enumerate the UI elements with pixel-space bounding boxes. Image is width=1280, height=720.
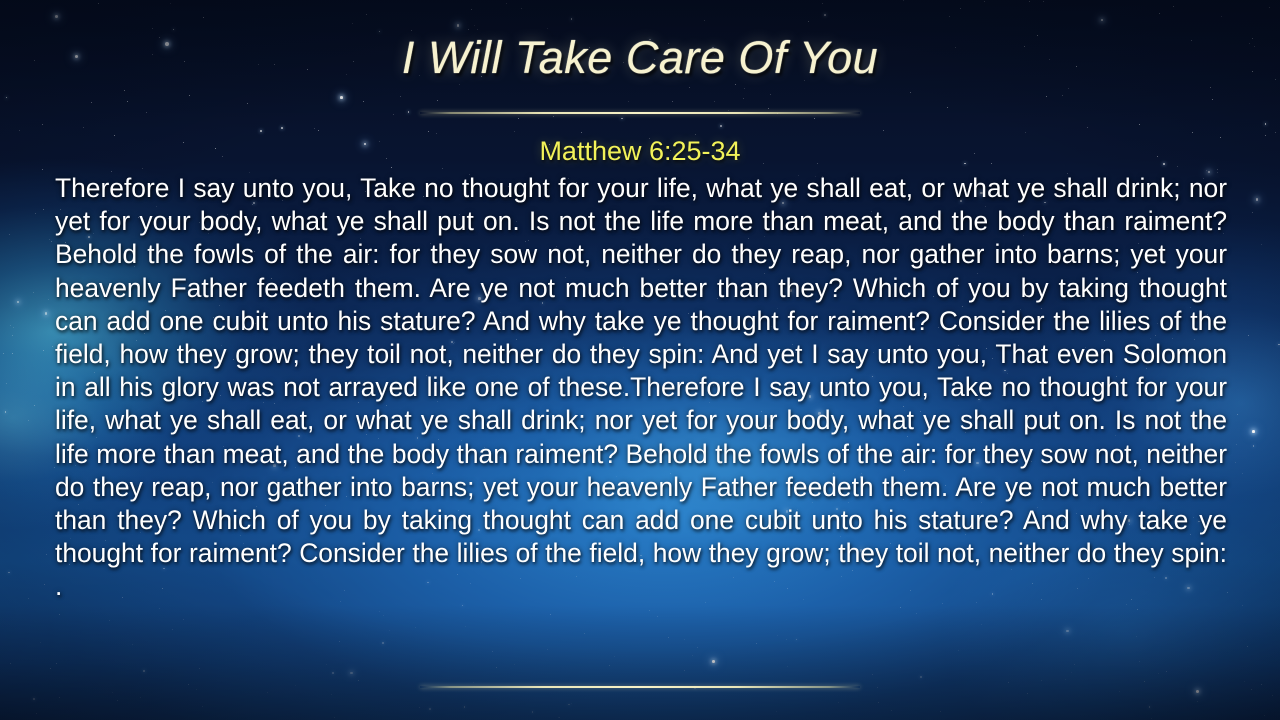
scripture-reference: Matthew 6:25-34 bbox=[0, 136, 1280, 167]
slide-title: I Will Take Care Of You bbox=[0, 32, 1280, 84]
divider-bottom bbox=[420, 686, 860, 688]
scripture-slide: I Will Take Care Of You Matthew 6:25-34 … bbox=[0, 0, 1280, 720]
divider-top bbox=[420, 112, 860, 114]
scripture-body-text: Therefore I say unto you, Take no though… bbox=[55, 172, 1227, 637]
slide-content: I Will Take Care Of You Matthew 6:25-34 … bbox=[0, 0, 1280, 720]
